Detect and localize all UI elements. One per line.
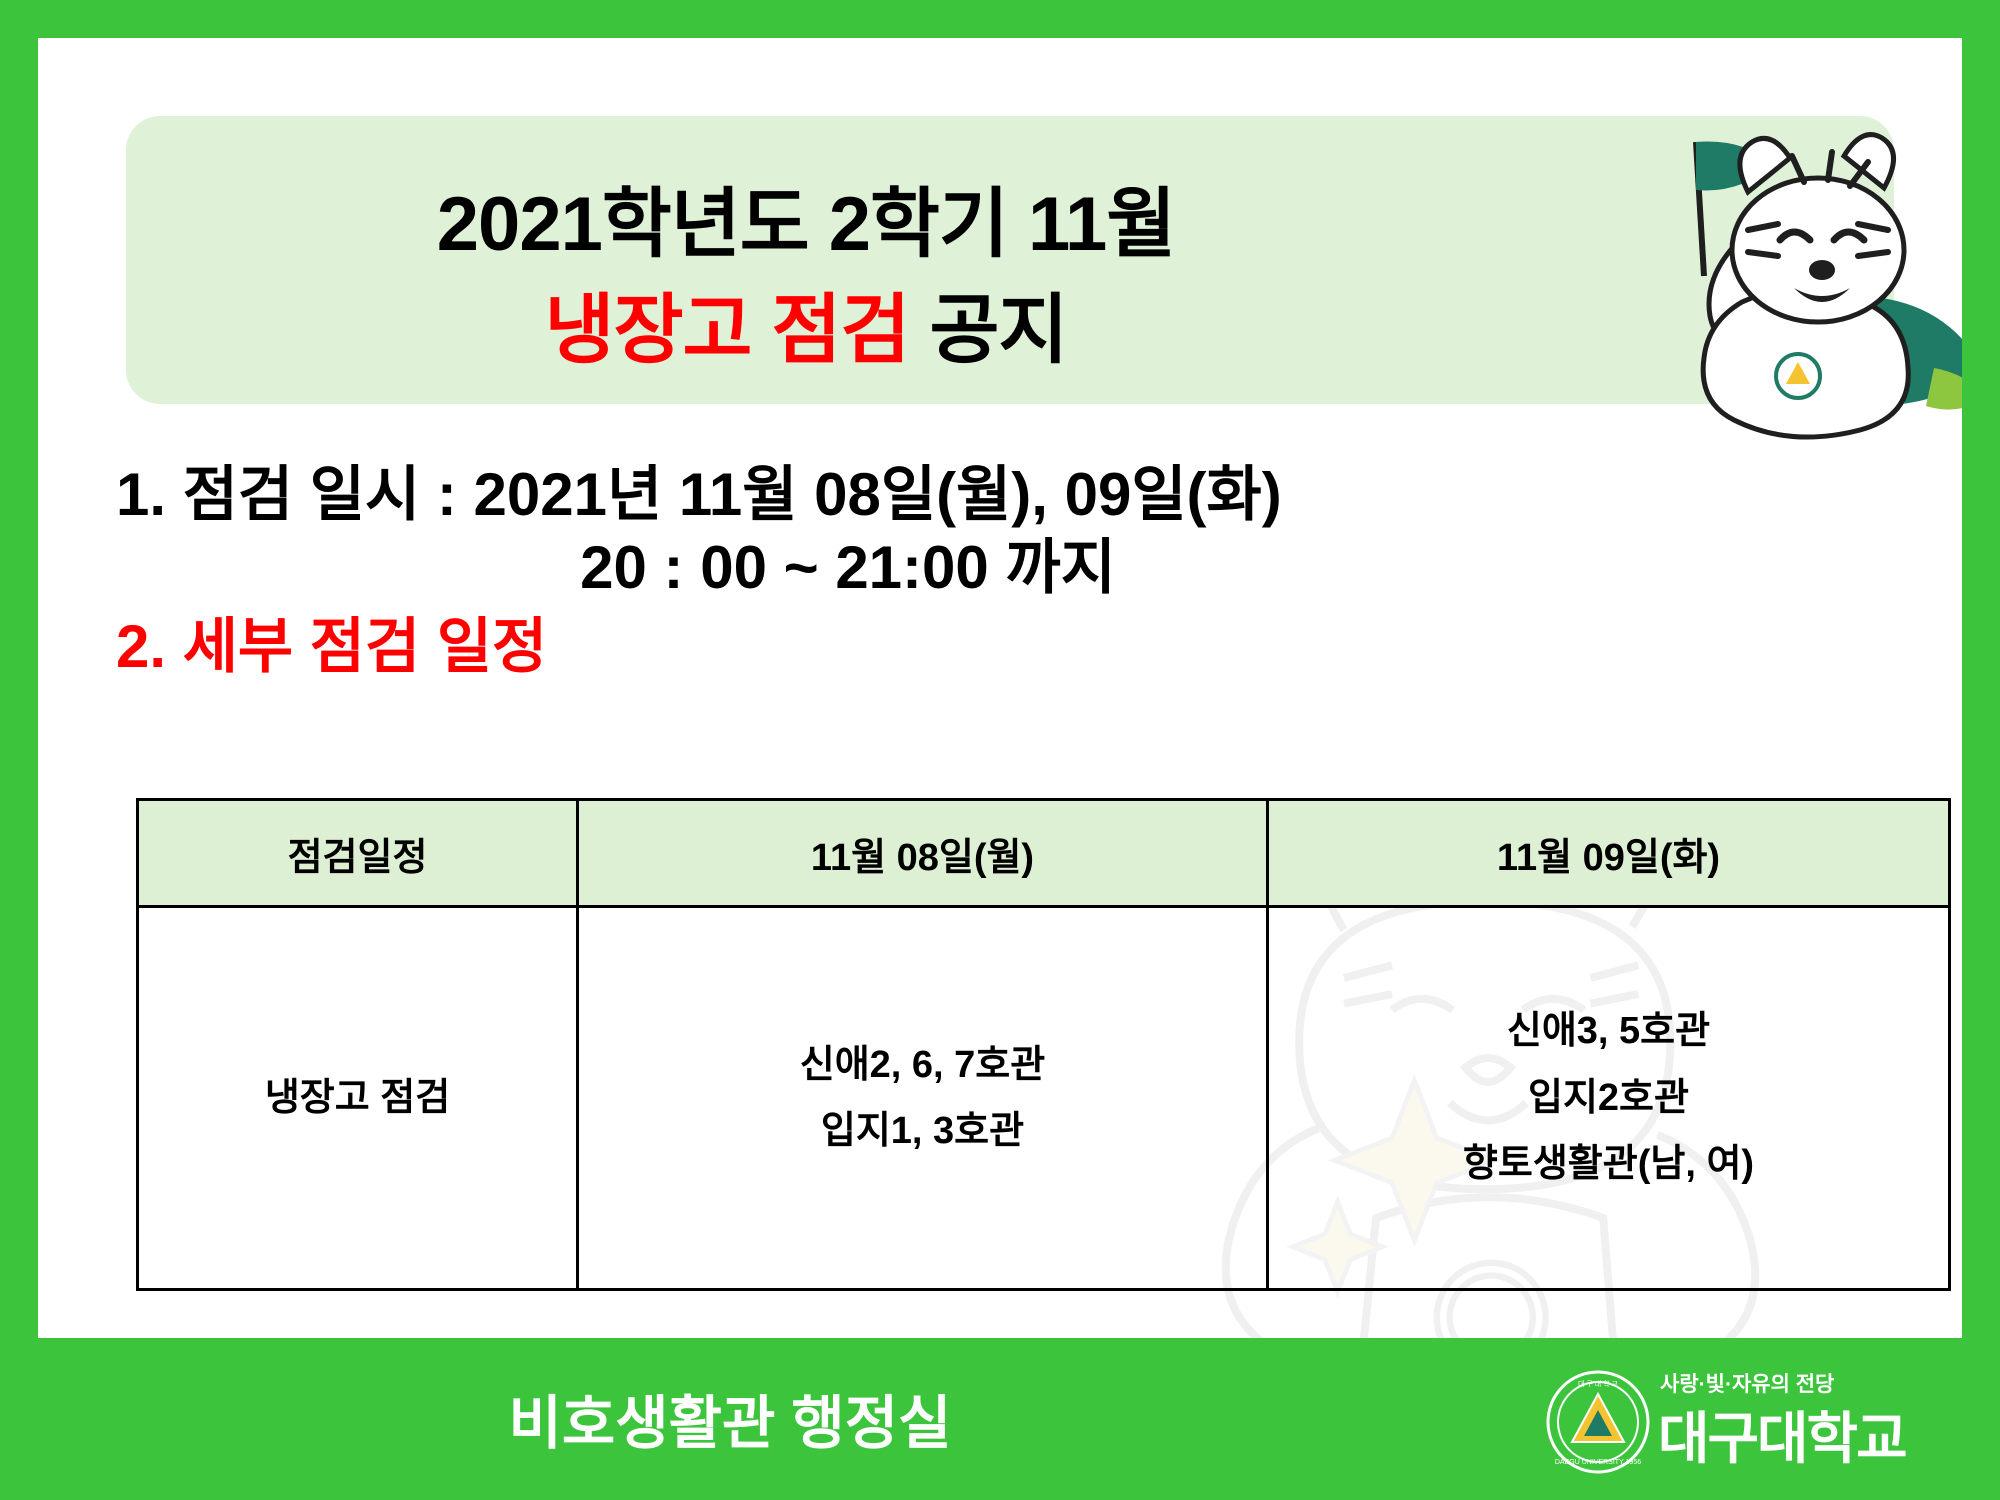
detail-schedule-heading: 2. 세부 점검 일정	[98, 610, 1898, 683]
table-cell-day1-buildings: 신애2, 6, 7호관 입지1, 3호관	[578, 907, 1268, 1290]
title-banner: 2021학년도 2학기 11월 냉장고 점검 공지	[126, 116, 1894, 404]
title-suffix-text: 공지	[909, 288, 1067, 373]
university-logo-group: 대 구 대 학 교 DAEGU UNIVERSITY 1956 사랑·빛·자유의…	[1546, 1362, 1966, 1480]
day2-building-line-3: 향토생활관(남, 여)	[1270, 1131, 1947, 1198]
schedule-table: 점검일정 11월 08일(월) 11월 09일(화) 냉장고 점검 신애2, 6…	[136, 798, 1951, 1291]
day2-building-line-2: 입지2호관	[1270, 1065, 1947, 1132]
table-header-cell-day2: 11월 09일(화)	[1268, 800, 1950, 907]
table-header-cell-schedule: 점검일정	[138, 800, 578, 907]
slide-content-area: 2021학년도 2학기 11월 냉장고 점검 공지	[38, 38, 1962, 1338]
body-block: 1. 점검 일시 : 2021년 11월 08일(월), 09일(화) 20 :…	[98, 458, 1898, 684]
table-header-row: 점검일정 11월 08일(월) 11월 09일(화)	[138, 800, 1950, 907]
svg-text:대 구 대 학 교: 대 구 대 학 교	[1578, 1379, 1619, 1388]
table-cell-day2-buildings: 신애3, 5호관 입지2호관 향토생활관(남, 여)	[1268, 907, 1950, 1290]
title-highlight-text: 냉장고 점검	[545, 288, 910, 373]
day1-building-line-1: 신애2, 6, 7호관	[580, 1032, 1265, 1099]
day1-building-line-2: 입지1, 3호관	[580, 1098, 1265, 1165]
table-row: 냉장고 점검 신애2, 6, 7호관 입지1, 3호관 신애3, 5호관 입지2…	[138, 907, 1950, 1290]
inspection-datetime-line: 1. 점검 일시 : 2021년 11월 08일(월), 09일(화)	[98, 458, 1898, 531]
table-header-cell-day1: 11월 08일(월)	[578, 800, 1268, 907]
footer-office-name: 비호생활관 행정실	[0, 1376, 1460, 1460]
table-cell-row-label: 냉장고 점검	[138, 907, 578, 1290]
title-line-1: 2021학년도 2학기 11월	[126, 162, 1486, 272]
daegu-university-emblem-icon: 대 구 대 학 교 DAEGU UNIVERSITY 1956	[1546, 1370, 1650, 1474]
inspection-time-line: 20 : 00 ~ 21:00 까지	[98, 531, 1898, 604]
day2-building-line-1: 신애3, 5호관	[1270, 998, 1947, 1065]
title-line-2: 냉장고 점검 공지	[126, 268, 1486, 378]
university-name: 대구대학교	[1658, 1394, 1906, 1475]
slide-root: 2021학년도 2학기 11월 냉장고 점검 공지	[0, 0, 2000, 1500]
svg-text:DAEGU UNIVERSITY 1956: DAEGU UNIVERSITY 1956	[1555, 1459, 1641, 1466]
footer-bar: 비호생활관 행정실 대 구 대 학 교 DAEGU UNIVERSITY 195…	[0, 1340, 2000, 1500]
tiger-mascot-icon	[1536, 126, 1962, 456]
